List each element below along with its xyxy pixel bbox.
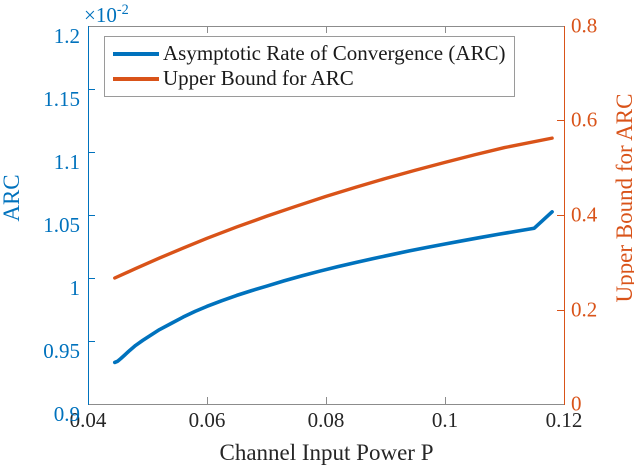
legend-entry-upper-bound[interactable]: Upper Bound for ARC — [113, 66, 506, 91]
legend-swatch-upper-bound — [113, 77, 159, 81]
legend-box[interactable]: Asymptotic Rate of Convergence (ARC) Upp… — [104, 36, 515, 97]
legend-label-upper-bound: Upper Bound for ARC — [163, 68, 354, 89]
figure-canvas: ×10-2 0.04 0.06 0.08 0.1 0.12 1.2 1.15 1… — [0, 0, 634, 474]
series-line-arc — [115, 212, 552, 363]
legend-swatch-arc — [113, 52, 159, 56]
legend-entry-arc[interactable]: Asymptotic Rate of Convergence (ARC) — [113, 41, 506, 66]
series-line-upper-bound — [115, 138, 552, 278]
legend-label-arc: Asymptotic Rate of Convergence (ARC) — [163, 43, 506, 64]
